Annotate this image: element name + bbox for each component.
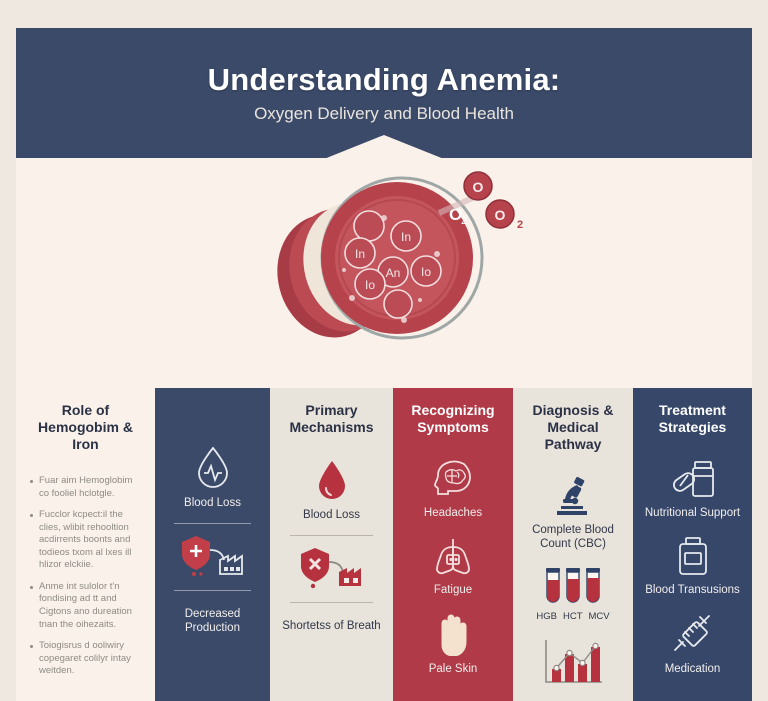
item-label-line1: Complete Blood [532, 524, 614, 538]
test-tube-labels: HGB HCT MCV [536, 611, 609, 622]
item-blood-test-tubes[interactable]: HGB HCT MCV [519, 566, 627, 622]
item-label: Blood Loss [184, 497, 241, 511]
page-subtitle: Oxygen Delivery and Blood Health [254, 104, 514, 124]
syringe-icon [669, 612, 717, 656]
item-label-line2: Count (CBC) [532, 538, 614, 552]
svg-text:In: In [401, 230, 411, 244]
column-heading-line1: Diagnosis & [519, 402, 627, 419]
column-heading-line2: Symptoms [411, 419, 494, 436]
o2-inline-subscript: 2 [461, 215, 467, 227]
blood-drop-icon [314, 458, 350, 502]
list-item: Fucclor kcpect:il the clies, wlibit reho… [28, 509, 143, 572]
content-columns: Role of Hemogobim & Iron Fuar aim Hemogl… [16, 388, 752, 701]
list-item: Anme int sulolor t'n fondising ad tt and… [28, 581, 143, 631]
svg-text:Io: Io [365, 278, 375, 292]
column-mechanisms-navy: Blood Loss Decreased Production [155, 388, 270, 701]
column-heading-line2: Mechanisms [289, 419, 373, 436]
item-blood-transfusions[interactable]: Blood Transusions [639, 535, 746, 598]
page-title: Understanding Anemia: [208, 62, 561, 98]
column-heading-line1: Role of [26, 402, 145, 419]
column-heading: Treatment Strategies [659, 402, 727, 436]
column-treatment-strategies: Treatment Strategies Nutritional Support [633, 388, 752, 701]
item-lab-results-chart[interactable] [519, 636, 627, 688]
item-label: Nutritional Support [645, 507, 740, 521]
lungs-icon [429, 535, 477, 577]
column-heading: Primary Mechanisms [289, 402, 373, 436]
item-blood-loss[interactable]: Blood Loss [161, 444, 264, 511]
item-decreased-production[interactable]: Decreased Production [161, 534, 264, 636]
pill-bottle-icon [669, 458, 717, 500]
list-item: Fuar aim Hemoglobim co fooliel hclotgle. [28, 475, 143, 500]
hand-icon [432, 612, 474, 656]
item-label: Blood Loss [303, 509, 360, 523]
column-role-of-hemoglobin-iron: Role of Hemogobim & Iron Fuar aim Hemogl… [16, 388, 155, 701]
column-recognizing-symptoms: Recognizing Symptoms Headaches [393, 388, 513, 701]
svg-text:An: An [386, 266, 401, 280]
item-label: Shortetss of Breath [282, 620, 380, 634]
item-label: Headaches [424, 507, 482, 521]
svg-text:In: In [355, 247, 365, 261]
item-shortness-of-breath[interactable]: Shortetss of Breath [276, 546, 387, 634]
item-pale-skin[interactable]: Pale Skin [399, 612, 507, 677]
tube-label-mcv: MCV [589, 611, 610, 622]
microscope-icon [551, 475, 595, 517]
svg-text:Io: Io [421, 265, 431, 279]
column-heading-line1: Primary [289, 402, 373, 419]
item-fatigue[interactable]: Fatigue [399, 535, 507, 598]
column-primary-mechanisms: Primary Mechanisms Blood Loss [270, 388, 393, 701]
test-tubes-icon [542, 566, 604, 606]
list-item: Toiogisrus d ooliwiry copegaret colilyr … [28, 640, 143, 678]
blood-drop-pulse-icon [193, 444, 233, 490]
infographic-poster: Understanding Anemia: Oxygen Delivery an… [16, 28, 752, 701]
item-divider [174, 523, 250, 524]
item-headaches[interactable]: Headaches [399, 458, 507, 521]
column-diagnosis-medical-pathway: Diagnosis & Medical Pathway [513, 388, 633, 701]
item-blood-loss[interactable]: Blood Loss [276, 458, 387, 523]
shield-factory-icon [299, 546, 365, 590]
shield-factory-icon [180, 534, 246, 578]
item-divider [290, 535, 372, 536]
item-complete-blood-count[interactable]: Complete Blood Count (CBC) [519, 475, 627, 552]
item-divider [290, 602, 372, 603]
tube-label-hct: HCT [563, 611, 583, 622]
item-label: Blood Transusions [645, 584, 740, 598]
item-label: Pale Skin [429, 663, 478, 677]
column-heading-line2: Strategies [659, 419, 727, 436]
item-label: Medication [665, 663, 721, 677]
item-medication[interactable]: Medication [639, 612, 746, 677]
medicine-jar-icon [674, 535, 712, 577]
column-heading: Diagnosis & Medical Pathway [519, 402, 627, 453]
item-nutritional-support[interactable]: Nutritional Support [639, 458, 746, 521]
item-label: Fatigue [434, 584, 472, 598]
red-blood-cell-oxygen-illustration: In In An Io Io O 2 O O 2 [234, 158, 534, 358]
column-heading-line2: Hemogobim & Iron [26, 419, 145, 453]
item-label: Decreased Production [161, 608, 264, 636]
bar-line-chart-icon [540, 636, 606, 688]
head-brain-icon [430, 458, 476, 500]
svg-text:O: O [495, 207, 506, 223]
hero-illustration: In In An Io Io O 2 O O 2 [16, 158, 752, 390]
column-heading-line1: Recognizing [411, 402, 494, 419]
item-label: Complete Blood Count (CBC) [532, 524, 614, 552]
poster-header: Understanding Anemia: Oxygen Delivery an… [16, 28, 752, 158]
column-heading-line1: Treatment [659, 402, 727, 419]
column-heading: Role of Hemogobim & Iron [26, 402, 145, 453]
column-heading-line2: Medical Pathway [519, 419, 627, 453]
column-heading: Recognizing Symptoms [411, 402, 494, 436]
header-notch [324, 135, 444, 159]
svg-text:2: 2 [517, 219, 523, 231]
svg-text:O: O [473, 179, 484, 195]
bullet-list: Fuar aim Hemoglobim co fooliel hclotgle.… [26, 475, 145, 686]
tube-label-hgb: HGB [536, 611, 557, 622]
item-divider [174, 590, 250, 591]
